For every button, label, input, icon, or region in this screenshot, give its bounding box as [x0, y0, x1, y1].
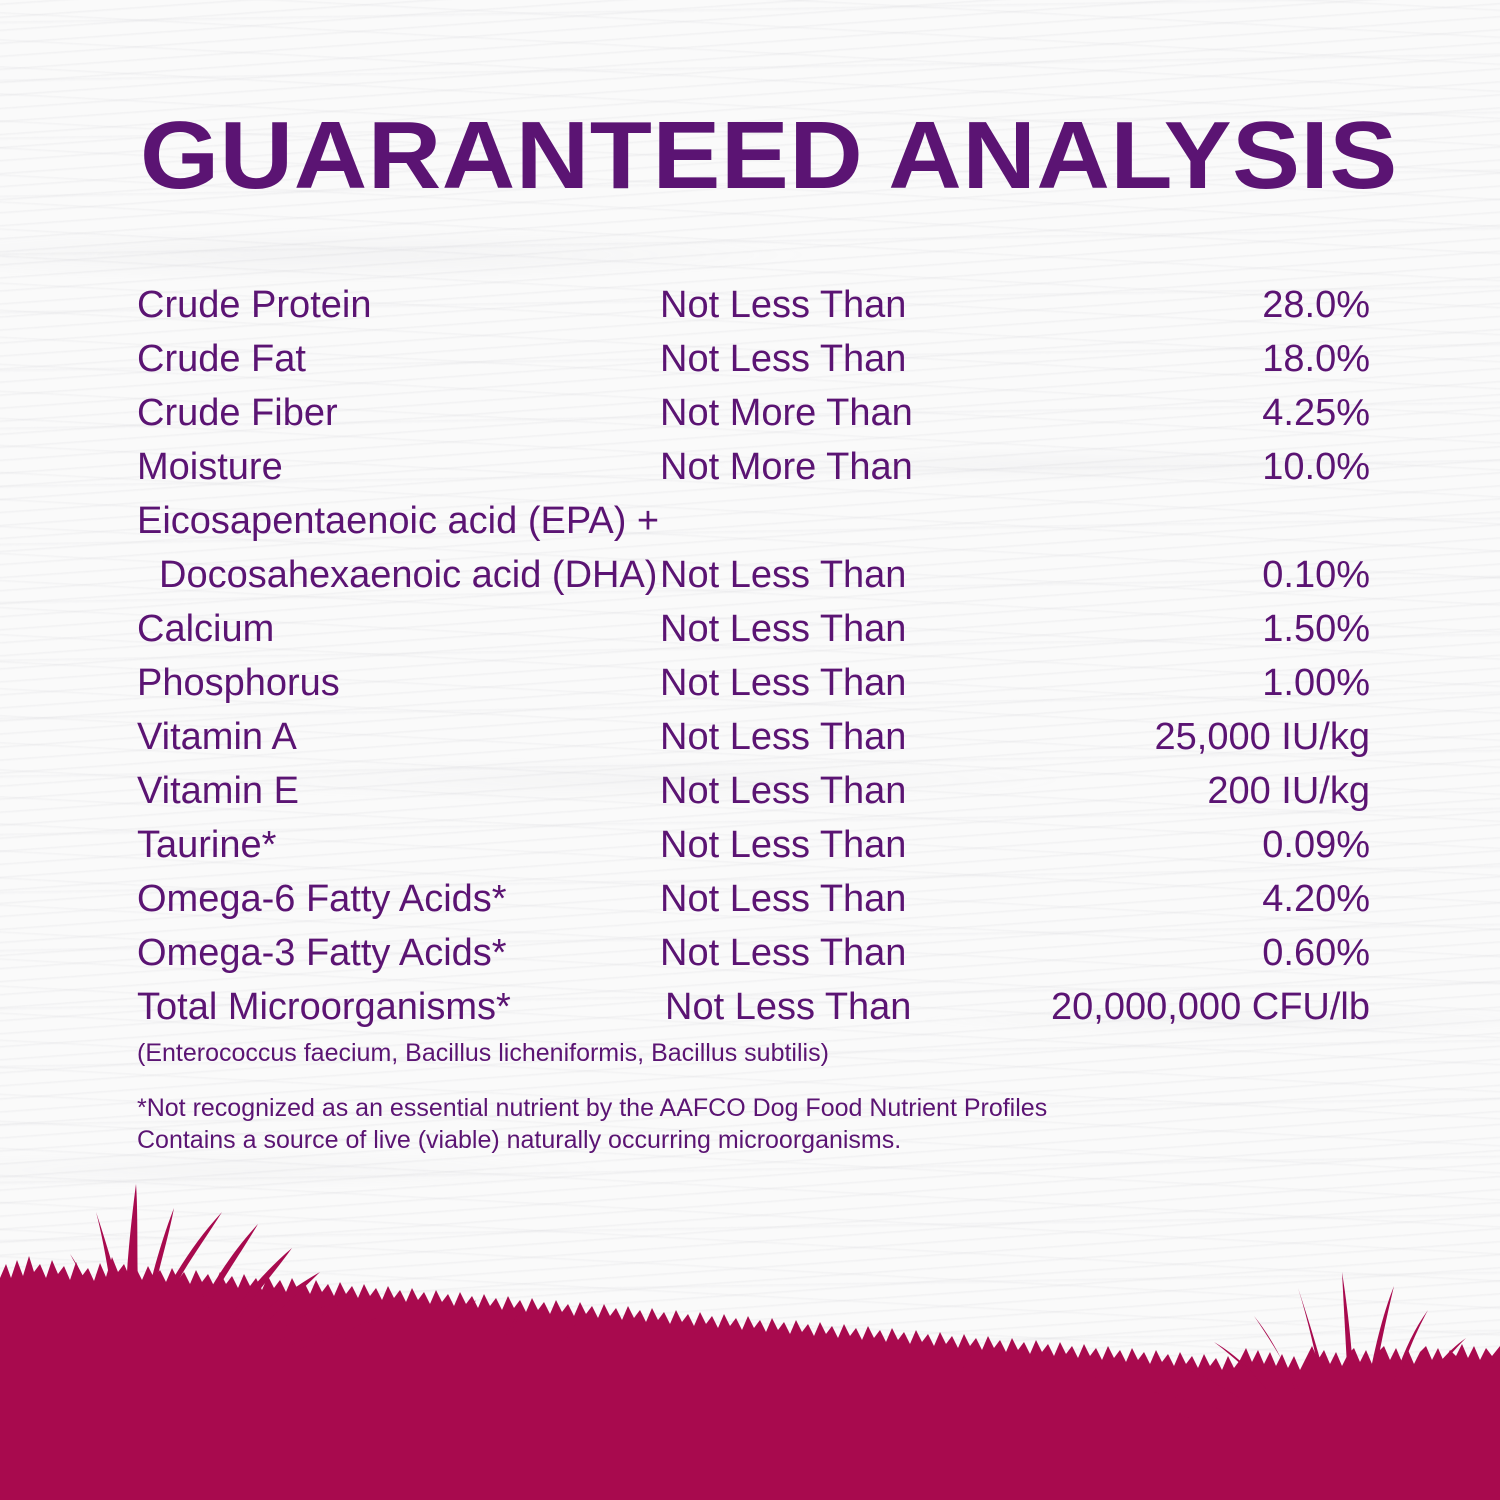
table-row: Vitamin A Not Less Than 25,000 IU/kg	[137, 715, 1370, 769]
qualifier-label: Not Less Than	[660, 931, 906, 975]
qualifier-label: Not Less Than	[665, 985, 911, 1029]
nutrient-label-line1: Eicosapentaenoic acid (EPA) +	[137, 499, 659, 543]
amount-value: 25,000 IU/kg	[1155, 715, 1370, 759]
qualifier-label: Not Less Than	[660, 553, 906, 597]
nutrient-label: Total Microorganisms*	[137, 985, 511, 1029]
nutrient-label: Taurine*	[137, 823, 276, 867]
qualifier-label: Not Less Than	[660, 769, 906, 813]
amount-value: 0.09%	[1262, 823, 1370, 867]
table-row: Calcium Not Less Than 1.50%	[137, 607, 1370, 661]
amount-value: 4.20%	[1262, 877, 1370, 921]
table-row: Omega-3 Fatty Acids* Not Less Than 0.60%	[137, 931, 1370, 985]
qualifier-label: Not Less Than	[660, 661, 906, 705]
nutrient-label: Vitamin A	[137, 715, 297, 759]
amount-value: 200 IU/kg	[1207, 769, 1370, 813]
footnote-block: *Not recognized as an essential nutrient…	[137, 1092, 1047, 1156]
qualifier-label: Not Less Than	[660, 877, 906, 921]
table-row: Crude Protein Not Less Than 28.0%	[137, 283, 1370, 337]
footnote-strains: (Enterococcus faecium, Bacillus lichenif…	[137, 1038, 829, 1069]
amount-value: 0.60%	[1262, 931, 1370, 975]
page-title: GUARANTEED ANALYSIS	[140, 108, 1454, 204]
qualifier-label: Not Less Than	[660, 823, 906, 867]
table-row: Omega-6 Fatty Acids* Not Less Than 4.20%	[137, 877, 1370, 931]
nutrient-label: Vitamin E	[137, 769, 299, 813]
amount-value: 1.00%	[1262, 661, 1370, 705]
qualifier-label: Not More Than	[660, 445, 913, 489]
amount-value: 4.25%	[1262, 391, 1370, 435]
table-row: Crude Fat Not Less Than 18.0%	[137, 337, 1370, 391]
amount-value: 20,000,000 CFU/lb	[1051, 985, 1370, 1029]
qualifier-label: Not Less Than	[660, 337, 906, 381]
qualifier-label: Not Less Than	[660, 715, 906, 759]
table-row: Total Microorganisms* Not Less Than 20,0…	[137, 985, 1370, 1039]
amount-value: 10.0%	[1262, 445, 1370, 489]
amount-value: 0.10%	[1262, 553, 1370, 597]
amount-value: 1.50%	[1262, 607, 1370, 651]
qualifier-label: Not More Than	[660, 391, 913, 435]
nutrient-label: Crude Fat	[137, 337, 306, 381]
qualifier-label: Not Less Than	[660, 283, 906, 327]
nutrient-label: Omega-6 Fatty Acids*	[137, 877, 507, 921]
amount-value: 18.0%	[1262, 337, 1370, 381]
grass-silhouette	[0, 1160, 1500, 1500]
amount-value: 28.0%	[1262, 283, 1370, 327]
table-row: Phosphorus Not Less Than 1.00%	[137, 661, 1370, 715]
footnote-asterisk-note: *Not recognized as an essential nutrient…	[137, 1092, 1047, 1124]
guaranteed-analysis-table: Crude Protein Not Less Than 28.0% Crude …	[137, 283, 1370, 1039]
table-row: Vitamin E Not Less Than 200 IU/kg	[137, 769, 1370, 823]
nutrient-label: Crude Protein	[137, 283, 371, 327]
table-row: Taurine* Not Less Than 0.09%	[137, 823, 1370, 877]
qualifier-label: Not Less Than	[660, 607, 906, 651]
nutrient-label: Moisture	[137, 445, 283, 489]
table-row: Moisture Not More Than 10.0%	[137, 445, 1370, 499]
nutrient-label: Omega-3 Fatty Acids*	[137, 931, 507, 975]
footnote-live-note: Contains a source of live (viable) natur…	[137, 1124, 1047, 1156]
guaranteed-analysis-panel: GUARANTEED ANALYSIS Crude Protein Not Le…	[0, 0, 1500, 1500]
nutrient-label: Phosphorus	[137, 661, 340, 705]
nutrient-label: Calcium	[137, 607, 274, 651]
table-row: Crude Fiber Not More Than 4.25%	[137, 391, 1370, 445]
table-row-epa-dha: Eicosapentaenoic acid (EPA) + Docosahexa…	[137, 499, 1370, 607]
nutrient-label: Crude Fiber	[137, 391, 338, 435]
nutrient-label-line2: Docosahexaenoic acid (DHA)	[159, 553, 657, 597]
